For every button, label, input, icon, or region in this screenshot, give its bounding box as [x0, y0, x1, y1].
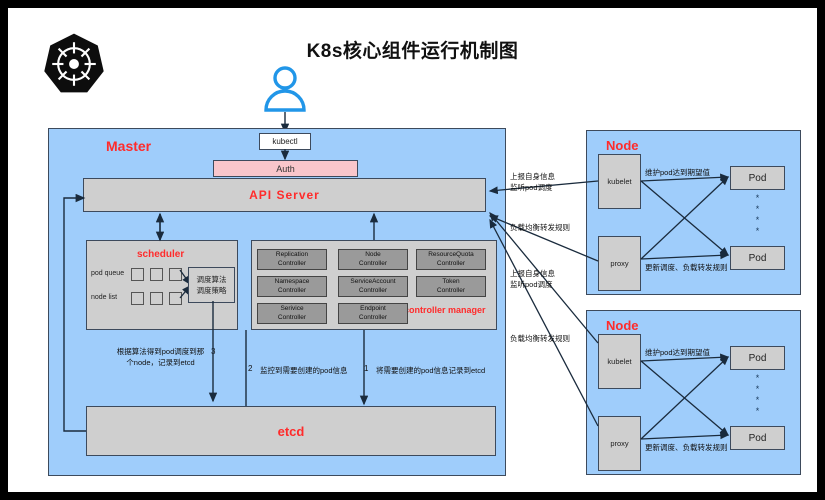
controller-resourcequota: ResourceQuota Controller	[416, 249, 486, 270]
kubelet-box-1: kubelet	[598, 154, 641, 209]
pod-box-1b: Pod	[730, 246, 785, 270]
controller-node: Node Controller	[338, 249, 408, 270]
proxy-edge-label-1: 更新调度、负载转发规则	[645, 262, 728, 273]
uplink-label-2: 上报自身信息 监听pod调度	[510, 268, 555, 290]
proxy-edge-label-2: 更新调度、负载转发规则	[645, 442, 728, 453]
kubectl-box[interactable]: kubectl	[259, 133, 311, 150]
connector-node2-apiserver	[486, 208, 601, 448]
pod-queue-slot	[150, 268, 163, 281]
connector-scheduler-etcd	[207, 301, 221, 407]
proxy-box-1: proxy	[598, 236, 641, 291]
api-server-label: API Server	[249, 188, 320, 202]
diagram-canvas: K8s核心组件运行机制图 Master kubectl Auth API Ser…	[8, 8, 817, 492]
pod-queue-label: pod queue	[91, 270, 124, 277]
connector-cm-apiserver	[370, 212, 380, 242]
node-list-slot	[131, 292, 144, 305]
page-title: K8s核心组件运行机制图	[8, 36, 817, 63]
kubelet-edge-label-1: 维护pod达到期望值	[645, 167, 710, 178]
flow-annotation-2: 监控到需要创建的pod信息	[260, 365, 348, 376]
controller-replication: Replication Controller	[257, 249, 327, 270]
user-icon	[261, 66, 309, 112]
pod-box-1a: Pod	[730, 166, 785, 190]
node-list-slot	[150, 292, 163, 305]
controller-namespace: Namespace Controller	[257, 276, 327, 297]
flow-annotation-1: 将需要创建的pod信息记录到etcd	[376, 365, 485, 376]
pod-box-2a: Pod	[730, 346, 785, 370]
kubelet-box-2: kubelet	[598, 334, 641, 389]
node-list-label: node list	[91, 294, 117, 301]
scheduler-label: scheduler	[137, 249, 184, 260]
controller-serviceaccount: ServiceAccount Controller	[338, 276, 408, 297]
etcd-label: etcd	[278, 424, 305, 439]
proxy-box-2: proxy	[598, 416, 641, 471]
pod-ellipsis-2: ****	[730, 373, 785, 417]
connector-etcd-apiserver-left	[60, 188, 90, 433]
pod-queue-slot	[131, 268, 144, 281]
scheduling-algorithm-box: 调度算法 调度策略	[188, 267, 235, 303]
master-label: Master	[106, 138, 151, 154]
algorithm-line2: 调度策略	[197, 285, 227, 296]
node-2-label: Node	[606, 318, 639, 333]
connector-scheduler-apiserver	[156, 212, 166, 242]
api-server-box: API Server	[83, 178, 486, 212]
kubelet-edge-label-2: 维护pod达到期望值	[645, 347, 710, 358]
connector-apiserver-etcd	[358, 330, 372, 410]
connector-etcd-scheduler	[240, 330, 254, 408]
auth-box: Auth	[213, 160, 358, 177]
lb-label-2: 负载均衡转发规则	[510, 333, 570, 344]
controller-token: Token Controller	[416, 276, 486, 297]
uplink-label-1: 上报自身信息 监听pod调度	[510, 171, 555, 193]
connector-node2-internal	[638, 343, 734, 443]
controller-service: Serivice Controller	[257, 303, 327, 324]
etcd-box: etcd	[86, 406, 496, 456]
controller-endpoint: Endpoint Controller	[338, 303, 408, 324]
node-1-label: Node	[606, 138, 639, 153]
controller-manager-label: controller manager	[404, 305, 486, 315]
algorithm-line1: 调度算法	[197, 274, 227, 285]
pod-ellipsis-1: ****	[730, 193, 785, 237]
pod-box-2b: Pod	[730, 426, 785, 450]
connector-node1-internal	[638, 163, 734, 263]
